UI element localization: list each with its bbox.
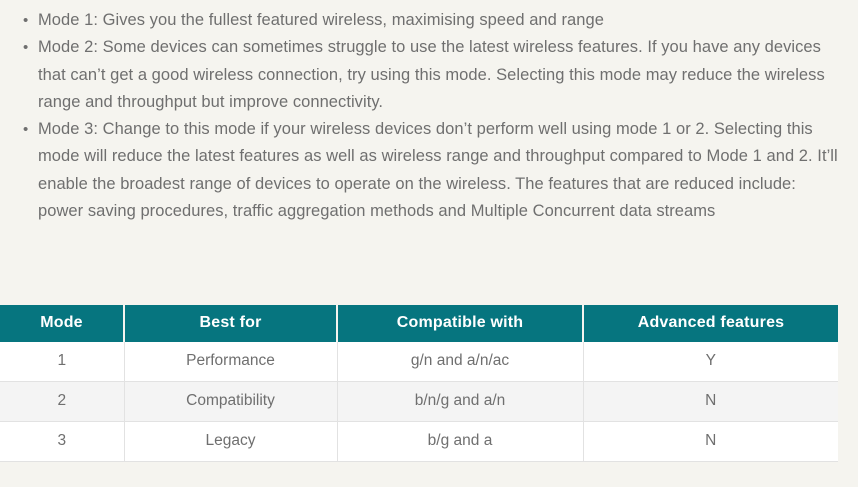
list-item: • Mode 1: Gives you the fullest featured… <box>0 7 858 34</box>
bullet-marker-icon: • <box>23 116 33 143</box>
cell-advanced-features: N <box>583 422 838 462</box>
list-item-text: Mode 3: Change to this mode if your wire… <box>38 120 838 220</box>
table-header-row: Mode Best for Compatible with Advanced f… <box>0 305 838 342</box>
help-content-page: • Mode 1: Gives you the fullest featured… <box>0 0 858 487</box>
cell-advanced-features: N <box>583 382 838 422</box>
cell-mode: 1 <box>0 342 124 382</box>
table-row: 1 Performance g/n and a/n/ac Y <box>0 342 838 382</box>
table-row: 2 Compatibility b/n/g and a/n N <box>0 382 838 422</box>
wireless-mode-table-container: Mode Best for Compatible with Advanced f… <box>0 305 838 462</box>
wireless-mode-table: Mode Best for Compatible with Advanced f… <box>0 305 838 462</box>
table-header: Mode Best for Compatible with Advanced f… <box>0 305 838 342</box>
list-item-text: Mode 1: Gives you the fullest featured w… <box>38 11 604 29</box>
cell-best-for: Performance <box>124 342 337 382</box>
cell-advanced-features: Y <box>583 342 838 382</box>
list-item: • Mode 3: Change to this mode if your wi… <box>0 116 858 225</box>
column-header-compatible-with: Compatible with <box>337 305 583 342</box>
cell-best-for: Legacy <box>124 422 337 462</box>
cell-compatible-with: g/n and a/n/ac <box>337 342 583 382</box>
cell-compatible-with: b/n/g and a/n <box>337 382 583 422</box>
cell-mode: 3 <box>0 422 124 462</box>
cell-mode: 2 <box>0 382 124 422</box>
list-item: • Mode 2: Some devices can sometimes str… <box>0 34 858 116</box>
table-row: 3 Legacy b/g and a N <box>0 422 838 462</box>
column-header-advanced-features: Advanced features <box>583 305 838 342</box>
list-item-text: Mode 2: Some devices can sometimes strug… <box>38 38 825 111</box>
column-header-mode: Mode <box>0 305 124 342</box>
cell-compatible-with: b/g and a <box>337 422 583 462</box>
bullet-marker-icon: • <box>23 7 33 34</box>
bullet-marker-icon: • <box>23 34 33 61</box>
wireless-mode-description-list: • Mode 1: Gives you the fullest featured… <box>0 0 858 225</box>
table-body: 1 Performance g/n and a/n/ac Y 2 Compati… <box>0 342 838 462</box>
cell-best-for: Compatibility <box>124 382 337 422</box>
column-header-best-for: Best for <box>124 305 337 342</box>
